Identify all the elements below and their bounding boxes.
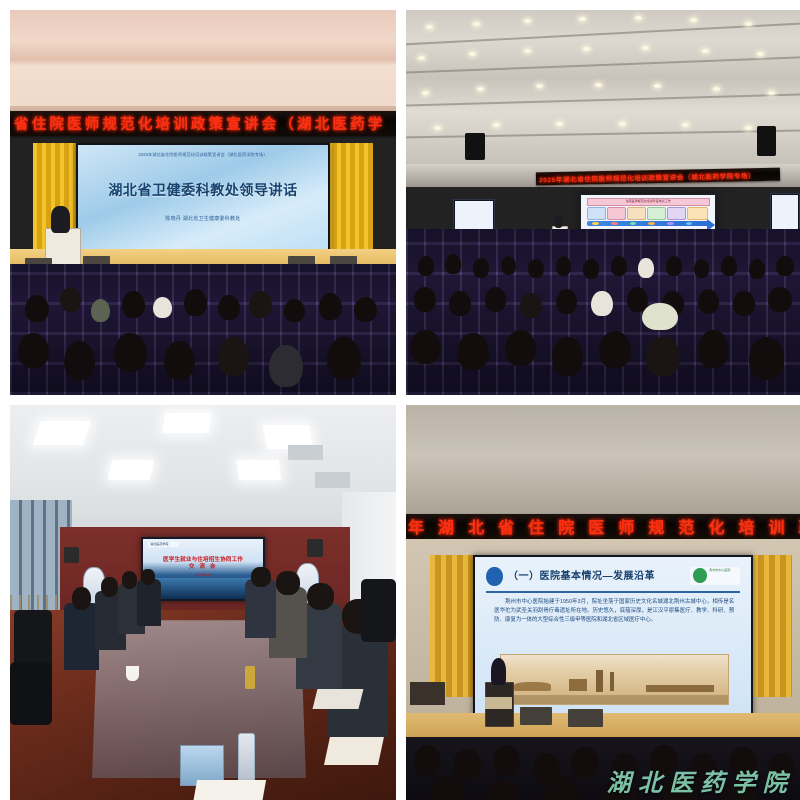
participant-right-3-head [276, 571, 299, 595]
photo-top-left: 省住院医师规范化培训政策宣讲会（湖北医药学 2025年湖北省住院医师规范化培训政… [10, 10, 396, 395]
participant-left-4-head [141, 569, 155, 585]
photo-top-right: 2025年湖北省住院医师规范化培训政策宣讲会（湖北医药学院专场） 住院医师规范化… [406, 10, 800, 395]
participant-left-4 [137, 579, 160, 626]
notebook-2 [324, 737, 384, 765]
water-bottle [238, 733, 255, 786]
participant-right-4 [245, 579, 276, 638]
papers-foreground [193, 780, 267, 800]
participant-left-1 [64, 603, 99, 670]
wall-speaker-left [64, 547, 79, 563]
drink-bottle [245, 666, 255, 690]
participant-left-3-head [122, 571, 137, 589]
chair-2 [10, 662, 52, 725]
participant-left-2-head [101, 577, 118, 597]
participant-right-4-head [251, 567, 270, 587]
ceiling-vent-2 [315, 472, 350, 488]
slide-date-text: 2025年3月 [143, 572, 263, 577]
paper-cup [126, 666, 140, 682]
photo-collage: 省住院医师规范化培训政策宣讲会（湖北医药学 2025年湖北省住院医师规范化培训政… [0, 0, 800, 800]
audience-heads-top-left [10, 10, 396, 395]
photo-bottom-left: 湖北医药学院 医学生就业与住培招生协同工作 交 流 会 2025年3月 [10, 405, 396, 800]
slide-title-line2: 交 流 会 [143, 562, 263, 570]
participant-left-1-head [72, 587, 91, 611]
audience-heads-bottom-right [406, 405, 800, 800]
audience-heads-top-right [406, 10, 800, 395]
participant-right-2-head [307, 583, 334, 611]
wall-speaker-right [307, 539, 322, 557]
logo-text: 湖北医药学院 [150, 542, 181, 546]
photo-bottom-right: 年 湖 北 省 住 院 医 师 规 范 化 培 训 政 策 宣 讲 （一）医院基… [406, 405, 800, 800]
ceiling-vent [288, 445, 323, 461]
chair-3 [361, 579, 396, 642]
notebook-1 [312, 689, 363, 709]
